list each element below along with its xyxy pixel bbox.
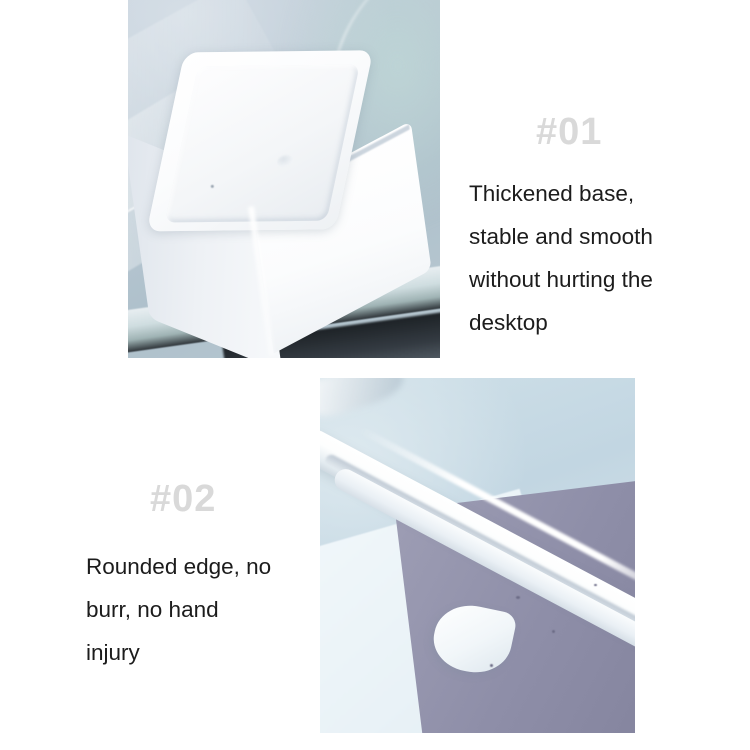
feature-text-02: Rounded edge, no burr, no hand injury bbox=[86, 545, 271, 674]
feature-marker-01: #01 bbox=[536, 113, 602, 151]
feature-photo-01 bbox=[128, 0, 440, 358]
feature-text-02-line-2: burr, no hand bbox=[86, 588, 271, 631]
dust-speck bbox=[490, 664, 493, 667]
feature-text-01: Thickened base, stable and smooth withou… bbox=[469, 172, 653, 344]
feature-text-01-line-3: without hurting the bbox=[469, 258, 653, 301]
feature-text-01-line-4: desktop bbox=[469, 301, 653, 344]
feature-text-02-line-3: injury bbox=[86, 631, 271, 674]
feature-marker-02: #02 bbox=[150, 480, 216, 518]
box-base-recess bbox=[165, 64, 360, 222]
dust-speck bbox=[594, 584, 597, 586]
feature-text-01-line-1: Thickened base, bbox=[469, 172, 653, 215]
dust-speck bbox=[516, 596, 520, 599]
dust-speck bbox=[552, 630, 555, 633]
feature-text-01-line-2: stable and smooth bbox=[469, 215, 653, 258]
container-box bbox=[128, 33, 440, 358]
feature-text-02-line-1: Rounded edge, no bbox=[86, 545, 271, 588]
feature-photo-02 bbox=[320, 378, 635, 733]
